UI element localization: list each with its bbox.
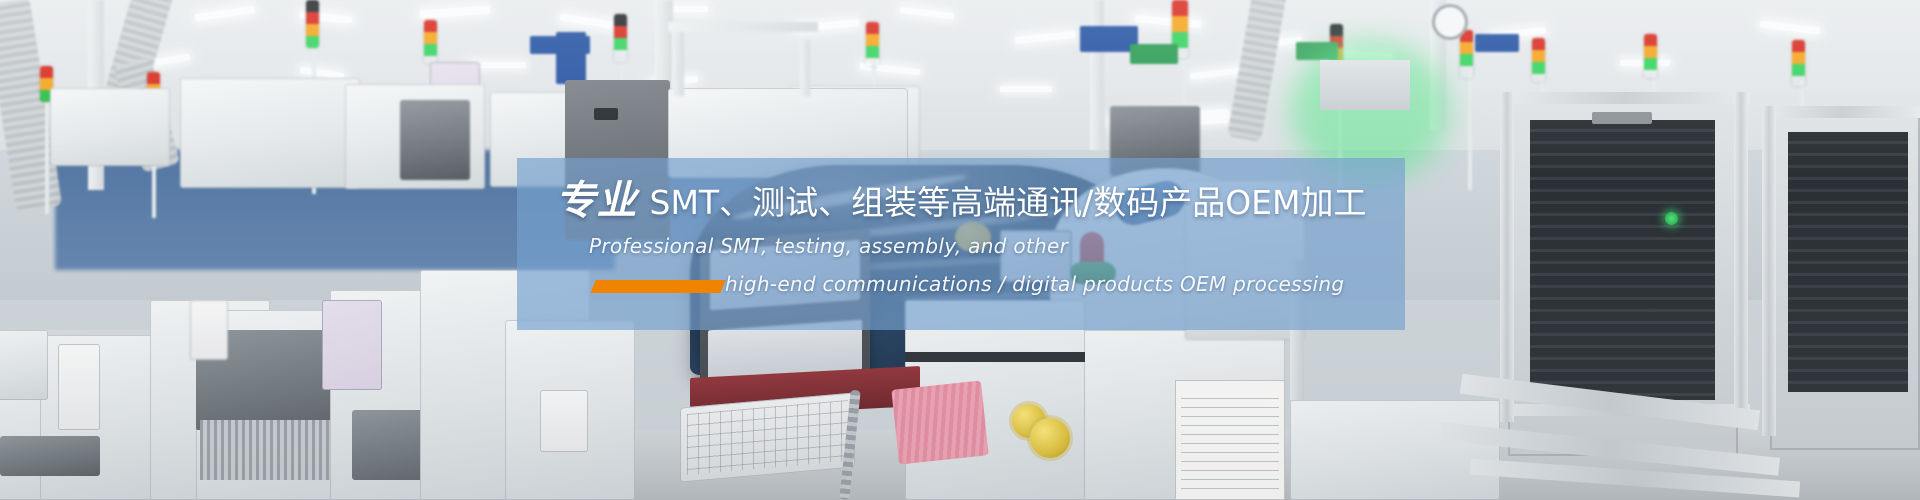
machine-seam (905, 352, 1085, 362)
conveyor-frame (800, 40, 810, 96)
cabinet-vent (594, 108, 618, 120)
machine-control-panel (58, 344, 100, 430)
ceiling-light (1000, 86, 1052, 92)
rack-post (1500, 92, 1514, 422)
stack-light-tower (1792, 40, 1805, 86)
emergency-stop-button-2[interactable] (1030, 418, 1070, 458)
orange-accent-bar (590, 280, 725, 293)
stack-light-tower (866, 22, 879, 66)
hanging-sign (530, 36, 590, 54)
headline-emphasis: 专业 (556, 168, 638, 226)
hanging-sign (1475, 34, 1519, 52)
tower-pole (45, 94, 49, 214)
stack-light-tower (306, 0, 319, 48)
banner-headline: 专业 SMT、测试、组装等高端通讯/数码产品OEM加工 (517, 168, 1405, 226)
machine-cart (1290, 400, 1500, 500)
conveyor-frame (668, 22, 818, 32)
smt-machine (180, 78, 360, 188)
machine-hmi-screen (322, 300, 382, 390)
hanging-sign (1130, 44, 1178, 64)
smt-machine (400, 100, 470, 180)
banner-subtitle-line-2: high-end communications / digital produc… (725, 272, 1344, 296)
pink-component-reel (891, 381, 988, 465)
machine-document-sheet (1175, 380, 1285, 500)
stack-light-tower (1532, 38, 1545, 82)
headline-rest: SMT、测试、组装等高端通讯/数码产品OEM加工 (650, 176, 1367, 224)
stack-light-tower (614, 14, 627, 62)
banner-text-overlay: 专业 SMT、测试、组装等高端通讯/数码产品OEM加工 Professional… (517, 158, 1405, 330)
rack-shelves (1788, 132, 1908, 392)
rack-frame-top (1500, 92, 1750, 104)
hero-banner: 专业 SMT、测试、组装等高端通讯/数码产品OEM加工 Professional… (0, 0, 1920, 500)
wall-clock (1432, 4, 1468, 40)
rack-frame-top (1762, 106, 1920, 118)
support-post (1090, 0, 1104, 150)
upper-cabinet (1320, 60, 1410, 110)
rack-shelves (1530, 120, 1715, 400)
stack-light-tower (1460, 30, 1473, 78)
smt-machine (50, 88, 170, 166)
rack-post (1762, 106, 1776, 436)
smt-machine (0, 330, 48, 400)
rack-post (1734, 92, 1748, 422)
machine-control-panel (540, 390, 588, 452)
rack-handle (1592, 112, 1652, 124)
machine-base (0, 436, 100, 476)
machine-display (190, 300, 228, 360)
conveyor-frame (672, 26, 684, 96)
rack-status-led (1665, 212, 1678, 225)
stack-light-tower (1644, 34, 1657, 78)
tower-pole (1468, 70, 1472, 190)
operator-keyboard[interactable] (680, 392, 855, 482)
stack-light-tower (424, 20, 437, 64)
banner-subtitle-line-1: Professional SMT, testing, assembly, and… (589, 234, 1068, 258)
